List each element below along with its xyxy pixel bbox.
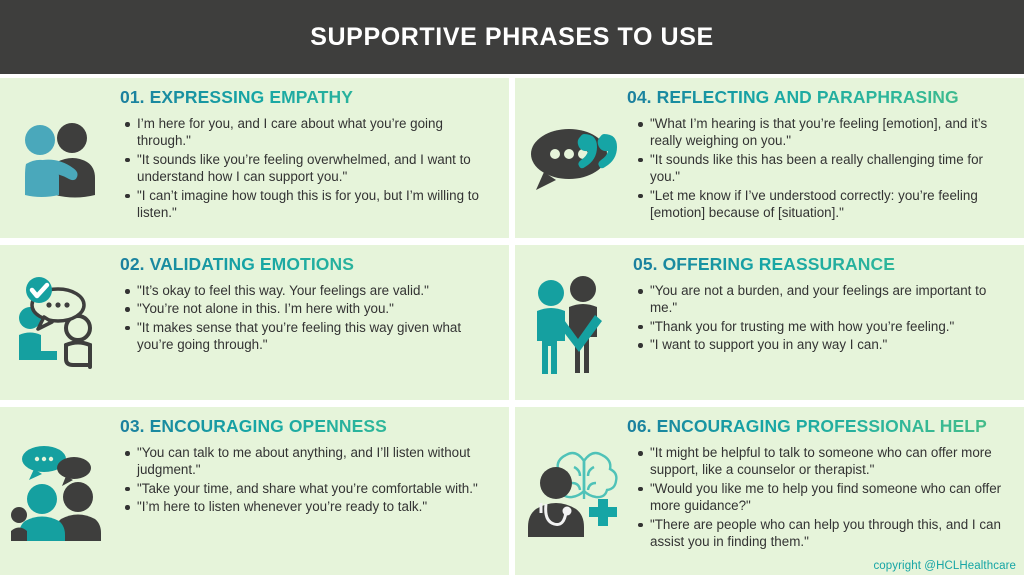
phrase-list: "You can talk to me about anything, and … xyxy=(120,444,497,516)
panel-expressing-empathy: 01. EXPRESSING EMPATHY I’m here for you,… xyxy=(0,78,509,238)
panel-encouraging-professional-help: 06. ENCOURAGING PROFESSIONAL HELP "It mi… xyxy=(515,407,1024,575)
phrase-list: "It might be helpful to talk to someone … xyxy=(633,444,1012,551)
panel-heading: 04. REFLECTING AND PARAPHRASING xyxy=(627,87,1012,108)
doctor-brain-cross-icon xyxy=(515,407,633,575)
list-item: "It might be helpful to talk to someone … xyxy=(650,444,1012,479)
copyright-notice: copyright @HCLHealthcare xyxy=(873,560,1016,572)
list-item: "It’s okay to feel this way. Your feelin… xyxy=(137,282,497,299)
page-header: SUPPORTIVE PHRASES TO USE xyxy=(0,0,1024,74)
panel-body: 01. EXPRESSING EMPATHY I’m here for you,… xyxy=(120,78,509,229)
panel-heading: 06. ENCOURAGING PROFESSIONAL HELP xyxy=(627,416,1012,437)
list-item: "I can’t imagine how tough this is for y… xyxy=(137,187,497,222)
phrase-list: "It’s okay to feel this way. Your feelin… xyxy=(120,282,497,354)
list-item: "I’m here to listen whenever you’re read… xyxy=(137,498,497,515)
panels-grid: 01. EXPRESSING EMPATHY I’m here for you,… xyxy=(0,74,1024,577)
list-item: "It sounds like you’re feeling overwhelm… xyxy=(137,151,497,186)
panel-validating-emotions: 02. VALIDATING EMOTIONS "It’s okay to fe… xyxy=(0,245,509,400)
panel-body: 03. ENCOURAGING OPENNESS "You can talk t… xyxy=(120,407,509,523)
page-title: SUPPORTIVE PHRASES TO USE xyxy=(310,23,714,52)
list-item: "There are people who can help you throu… xyxy=(650,516,1012,551)
panel-heading: 03. ENCOURAGING OPENNESS xyxy=(120,416,497,437)
panel-offering-reassurance: 05. OFFERING REASSURANCE "You are not a … xyxy=(515,245,1024,400)
phrase-list: "You are not a burden, and your feelings… xyxy=(633,282,1012,354)
panel-body: 04. REFLECTING AND PARAPHRASING "What I’… xyxy=(633,78,1024,229)
panel-body: 02. VALIDATING EMOTIONS "It’s okay to fe… xyxy=(120,245,509,361)
infographic-page: SUPPORTIVE PHRASES TO USE xyxy=(0,0,1024,577)
two-seated-people-hug-icon xyxy=(0,78,120,238)
list-item: "Thank you for trusting me with how you’… xyxy=(650,318,1012,335)
list-item: "Let me know if I’ve understood correctl… xyxy=(650,187,1012,222)
panel-heading: 05. OFFERING REASSURANCE xyxy=(633,254,1012,275)
phrase-list: I’m here for you, and I care about what … xyxy=(120,115,497,222)
list-item: "I want to support you in any way I can.… xyxy=(650,336,1012,353)
panel-body: 06. ENCOURAGING PROFESSIONAL HELP "It mi… xyxy=(633,407,1024,558)
seated-people-check-bubble-icon xyxy=(0,245,120,400)
list-item: "You are not a burden, and your feelings… xyxy=(650,282,1012,317)
panel-heading: 02. VALIDATING EMOTIONS xyxy=(120,254,497,275)
two-standing-people-arm-around-icon xyxy=(515,245,633,400)
panel-encouraging-openness: 03. ENCOURAGING OPENNESS "You can talk t… xyxy=(0,407,509,575)
list-item: "It makes sense that you’re feeling this… xyxy=(137,319,497,354)
panel-body: 05. OFFERING REASSURANCE "You are not a … xyxy=(633,245,1024,361)
two-people-speech-bubbles-icon xyxy=(0,407,120,575)
list-item: "Would you like me to help you find some… xyxy=(650,480,1012,515)
list-item: "Take your time, and share what you’re c… xyxy=(137,480,497,497)
phrase-list: "What I’m hearing is that you’re feeling… xyxy=(633,115,1012,222)
list-item: I’m here for you, and I care about what … xyxy=(137,115,497,150)
panel-heading: 01. EXPRESSING EMPATHY xyxy=(120,87,497,108)
list-item: "It sounds like this has been a really c… xyxy=(650,151,1012,186)
list-item: "You can talk to me about anything, and … xyxy=(137,444,497,479)
list-item: "You’re not alone in this. I’m here with… xyxy=(137,300,497,317)
list-item: "What I’m hearing is that you’re feeling… xyxy=(650,115,1012,150)
panel-reflecting-and-paraphrasing: 04. REFLECTING AND PARAPHRASING "What I’… xyxy=(515,78,1024,238)
speech-bubble-quotes-icon xyxy=(515,78,633,238)
